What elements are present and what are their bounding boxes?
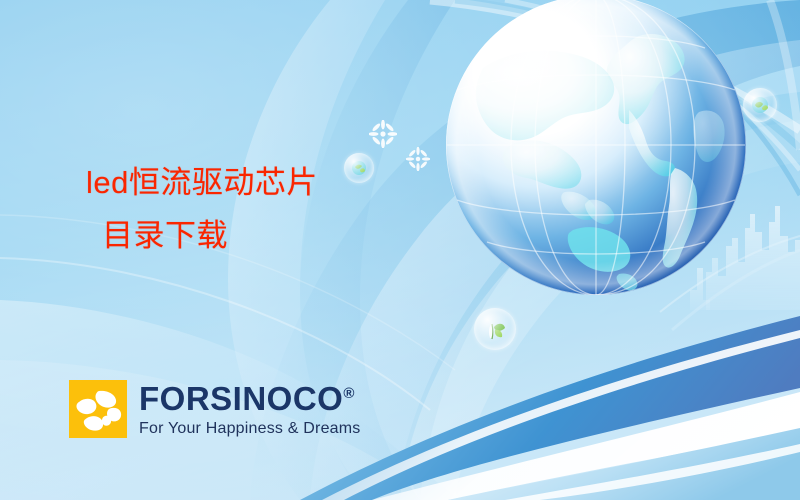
logo-text-lockup: FORSINOCO® For Your Happiness & Dreams (139, 382, 361, 437)
logo-wordmark-text: FORSINOCO (139, 380, 343, 417)
four-petal-flower-icon (69, 380, 127, 438)
bubble-globe-right (743, 88, 777, 122)
brand-logo: FORSINOCO® For Your Happiness & Dreams (69, 380, 361, 438)
page-title-line-1: led恒流驱动芯片 (86, 163, 416, 203)
bubble-leaf-large (474, 308, 516, 350)
logo-tagline: For Your Happiness & Dreams (139, 421, 361, 437)
logo-wordmark: FORSINOCO® (139, 382, 361, 415)
bubble-shell (743, 88, 777, 122)
poster-canvas: led恒流驱动芯片 目录下载 FORSINOCO® For Your Happi… (0, 0, 800, 500)
page-title-line-2: 目录下载 (102, 216, 416, 256)
earth-globe (443, 0, 749, 298)
bubble-shell (474, 308, 516, 350)
page-title: led恒流驱动芯片 目录下载 (86, 163, 416, 255)
registered-trademark-icon: ® (343, 385, 354, 402)
